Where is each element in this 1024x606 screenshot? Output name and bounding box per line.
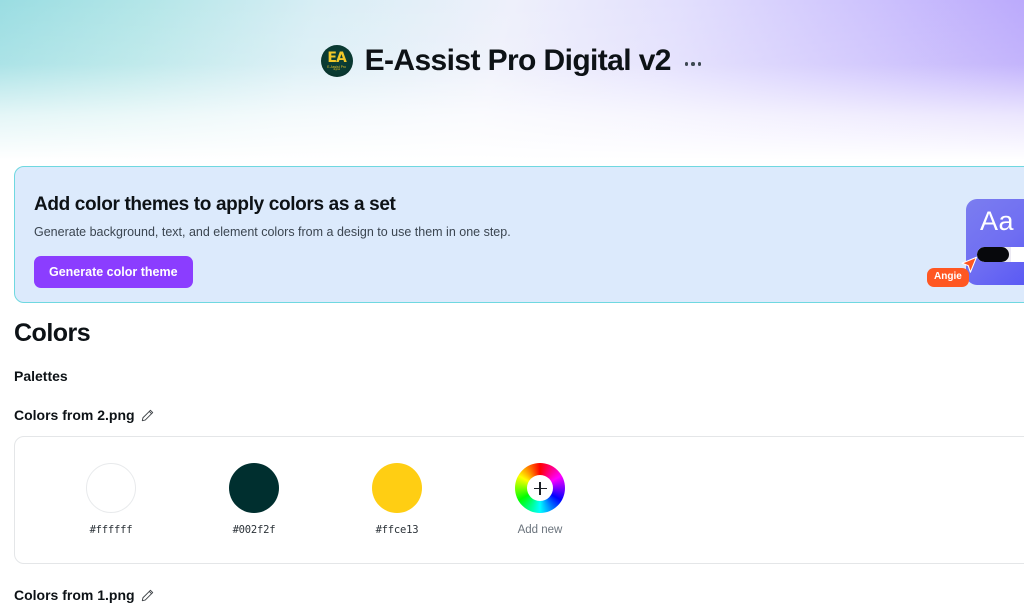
color-swatch-dot <box>372 463 422 513</box>
preview-card-slider[interactable] <box>977 247 1024 262</box>
colors-heading: Colors <box>14 319 1024 348</box>
header-gradient-background <box>0 0 1024 160</box>
generate-color-theme-button[interactable]: Generate color theme <box>34 256 193 288</box>
brand-logo-icon: EA E-Assist Pro digital <box>321 45 353 77</box>
dot-1 <box>685 62 689 66</box>
color-swatch-hex: #ffffff <box>90 524 133 536</box>
color-swatch-dot <box>229 463 279 513</box>
app-header: EA E-Assist Pro digital E-Assist Pro Dig… <box>0 0 1024 160</box>
pencil-icon[interactable] <box>141 589 154 602</box>
add-new-color-label: Add new <box>518 524 563 536</box>
dot-2 <box>691 62 695 66</box>
page-title: E-Assist Pro Digital v2 <box>365 44 671 78</box>
pencil-icon[interactable] <box>141 409 154 422</box>
color-swatch[interactable]: #ffffff <box>63 463 159 536</box>
palette-name-1: Colors from 1.png <box>14 587 135 603</box>
color-theme-promo-banner: Add color themes to apply colors as a se… <box>14 166 1024 303</box>
color-swatch-hex: #002f2f <box>233 524 276 536</box>
brand-logo-initials: EA <box>327 51 345 65</box>
color-swatch[interactable]: #ffce13 <box>349 463 445 536</box>
preview-card-slider-fill <box>977 247 1009 262</box>
promo-title: Add color themes to apply colors as a se… <box>34 193 654 217</box>
preview-card-aa-label: Aa <box>980 208 1014 235</box>
typography-preview-card[interactable]: Aa <box>966 199 1024 285</box>
palette-label-row-0: Colors from 2.png <box>14 407 1024 423</box>
add-new-color-button[interactable]: Add new <box>492 463 588 536</box>
colors-panel: Colors Palettes Colors from 2.png #fffff… <box>0 303 1024 603</box>
promo-text-block: Add color themes to apply colors as a se… <box>34 193 654 288</box>
palette-name-0: Colors from 2.png <box>14 407 135 423</box>
color-swatch[interactable]: #002f2f <box>206 463 302 536</box>
promo-subtitle: Generate background, text, and element c… <box>34 224 654 242</box>
swatch-row-0: #ffffff #002f2f #ffce13 Add new <box>15 437 1024 536</box>
pencil-glyph <box>141 589 154 602</box>
palette-card-0: #ffffff #002f2f #ffce13 Add new <box>14 436 1024 564</box>
plus-icon <box>534 482 547 495</box>
pencil-glyph <box>141 409 154 422</box>
palette-label-row-1: Colors from 1.png <box>14 587 1024 603</box>
more-options-icon[interactable] <box>683 56 704 66</box>
brand-logo-subtext-secondary: digital <box>333 69 340 72</box>
dot-3 <box>698 62 702 66</box>
header-title-row: EA E-Assist Pro digital E-Assist Pro Dig… <box>0 44 1024 78</box>
color-wheel-icon <box>515 463 565 513</box>
palettes-heading: Palettes <box>14 368 1024 384</box>
color-swatch-hex: #ffce13 <box>376 524 419 536</box>
color-swatch-dot <box>86 463 136 513</box>
preview-card-slider-segment <box>1011 247 1024 262</box>
